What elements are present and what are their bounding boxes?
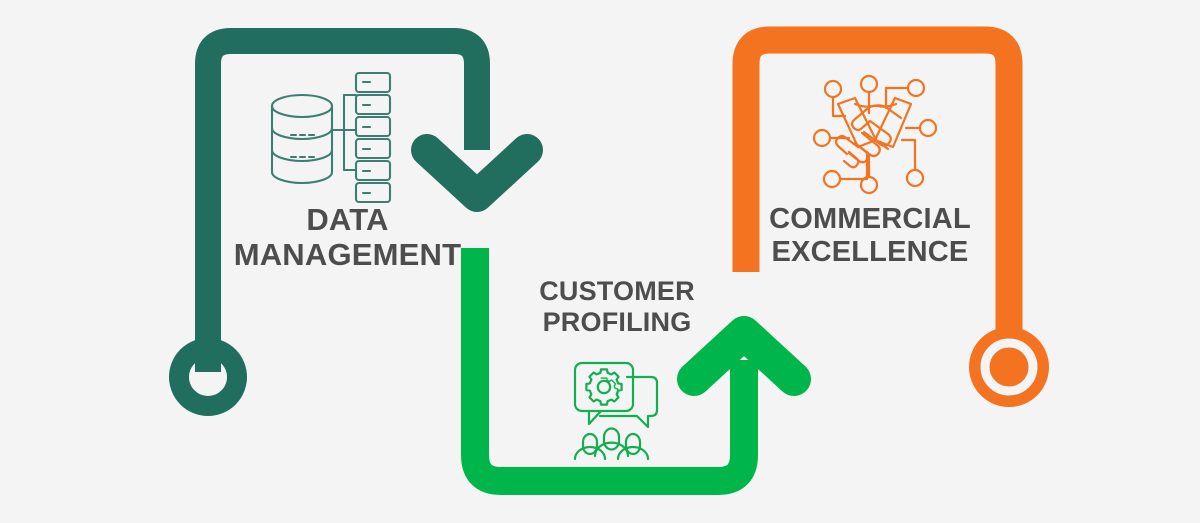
stage-label-data-management: DATA MANAGEMENT [205, 202, 490, 272]
ring-filled-terminator [969, 327, 1049, 407]
stage-label-customer-profiling: CUSTOMER PROFILING [492, 276, 742, 337]
process-flow-diagram: DATA MANAGEMENT CUSTOMER PROFILING COMME… [0, 0, 1200, 523]
flow-diagram-svg [0, 0, 1200, 523]
stage-label-commercial-excellence: COMMERCIAL EXCELLENCE [745, 203, 995, 269]
